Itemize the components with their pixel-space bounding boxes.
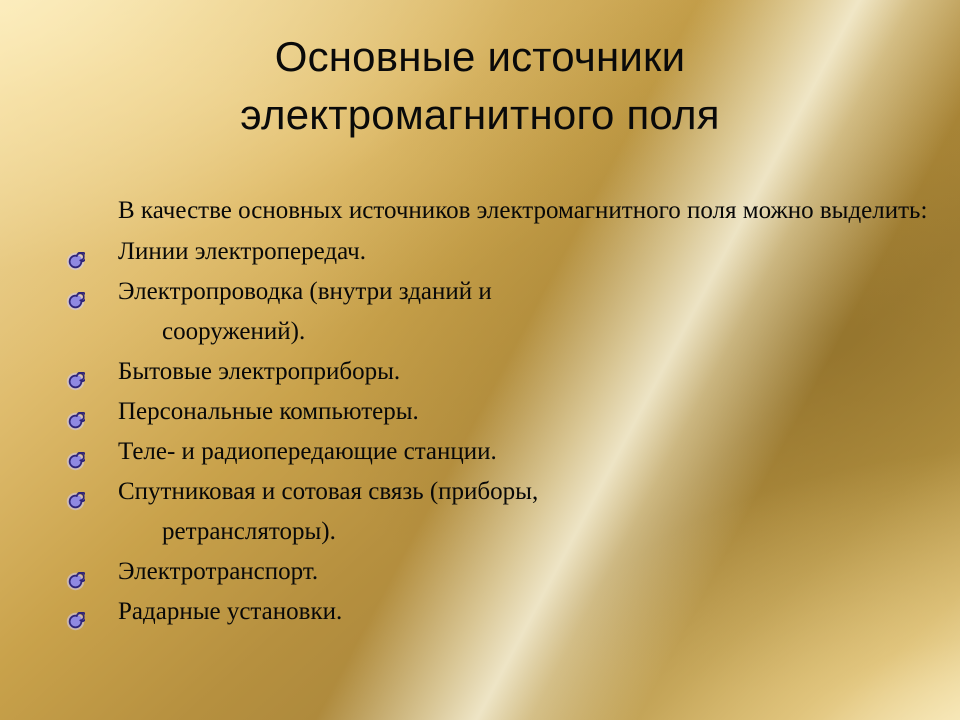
spiral-bullet-icon — [66, 244, 85, 263]
list-item: Теле- и радиопередающие станции. — [58, 432, 938, 472]
slide-title: Основные источники электромагнитного пол… — [80, 28, 880, 144]
list-item-label: Электропроводка (внутри зданий и — [118, 278, 492, 305]
spiral-bullet-icon — [66, 364, 85, 383]
slide-body: В качестве основных источников электрома… — [58, 192, 938, 632]
slide-canvas: Основные источники электромагнитного пол… — [0, 0, 960, 720]
spiral-bullet-icon — [66, 444, 85, 463]
list-item-label: Бытовые электроприборы. — [118, 358, 400, 385]
list-item-label: Теле- и радиопередающие станции. — [118, 438, 497, 465]
slide-content: Основные источники электромагнитного пол… — [0, 0, 960, 720]
sources-bullet-list: Линии электропередач. Электропроводка (в… — [58, 232, 938, 632]
spiral-bullet-icon — [66, 484, 85, 503]
list-item-label: Радарные установки. — [118, 598, 342, 625]
list-item: Бытовые электроприборы. — [58, 352, 938, 392]
list-item-label: Персональные компьютеры. — [118, 398, 419, 425]
list-item: Спутниковая и сотовая связь (приборы, ре… — [58, 472, 938, 552]
list-item-label: Линии электропередач. — [118, 238, 366, 265]
list-item: Линии электропередач. — [58, 232, 938, 272]
list-item-label: Электротранспорт. — [118, 558, 318, 585]
spiral-bullet-icon — [66, 284, 85, 303]
list-item-label: Спутниковая и сотовая связь (приборы, — [118, 478, 538, 505]
spiral-bullet-icon — [66, 604, 85, 623]
list-item: Электропроводка (внутри зданий и сооруже… — [58, 272, 938, 352]
list-item-continuation: сооружений). — [118, 312, 938, 352]
spiral-bullet-icon — [66, 404, 85, 423]
list-item: Персональные компьютеры. — [58, 392, 938, 432]
list-item: Радарные установки. — [58, 592, 938, 632]
spiral-bullet-icon — [66, 564, 85, 583]
list-item-continuation: ретрансляторы). — [118, 512, 938, 552]
list-item: Электротранспорт. — [58, 552, 938, 592]
intro-paragraph: В качестве основных источников электрома… — [58, 192, 938, 230]
